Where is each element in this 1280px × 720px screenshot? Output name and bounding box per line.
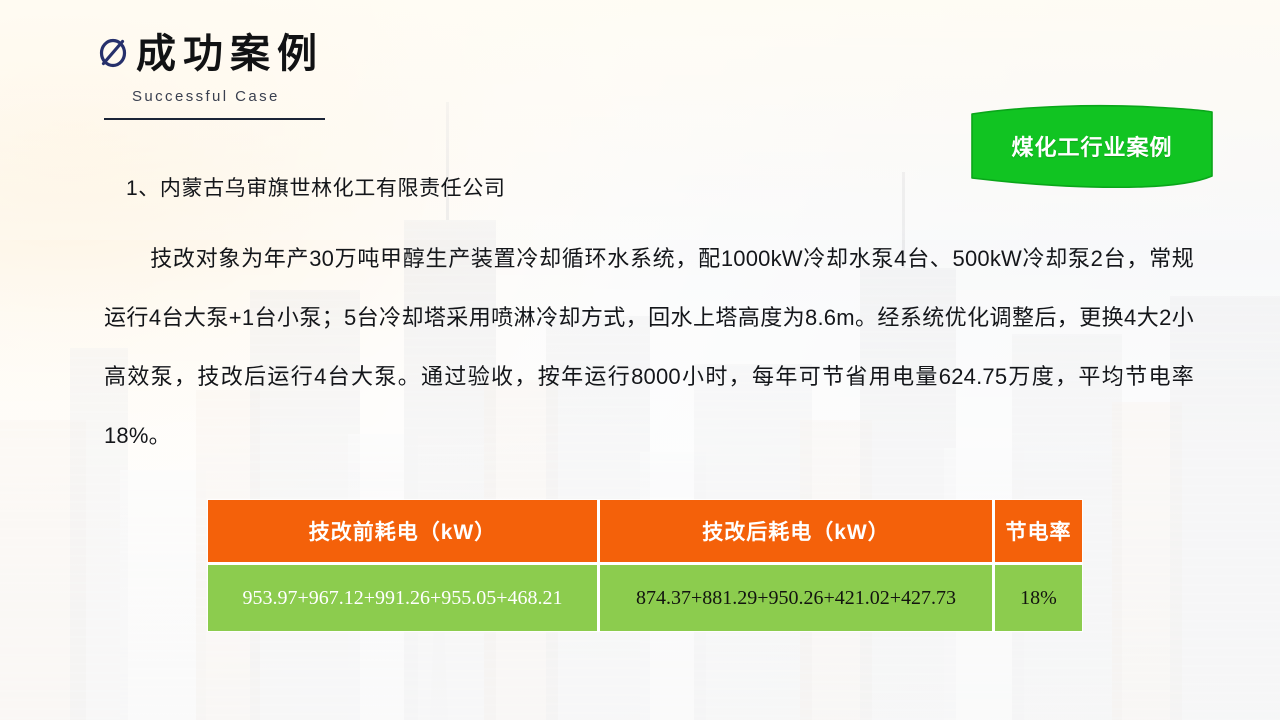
table-header-saving-rate: 节电率 bbox=[995, 500, 1082, 565]
title-underline-rule bbox=[104, 118, 325, 120]
industry-badge-label: 煤化工行业案例 bbox=[966, 130, 1218, 162]
cell-saving-rate: 18% bbox=[995, 565, 1082, 631]
slide-canvas: 成功案例 Successful Case 煤化工行业案例 1、内蒙古乌审旗世林化… bbox=[0, 0, 1280, 720]
case-heading: 1、内蒙古乌审旗世林化工有限责任公司 bbox=[126, 175, 1194, 203]
table-header-after-power: 技改后耗电（kW） bbox=[600, 500, 995, 565]
page-title: 成功案例 bbox=[136, 34, 324, 74]
body-content: 1、内蒙古乌审旗世林化工有限责任公司 技改对象为年产30万吨甲醇生产装置冷却循环… bbox=[104, 175, 1194, 465]
cell-after-power: 874.37+881.29+950.26+421.02+427.73 bbox=[600, 565, 995, 631]
energy-table-wrapper: 技改前耗电（kW） 技改后耗电（kW） 节电率 953.97+967.12+99… bbox=[208, 500, 1082, 631]
slide-header: 成功案例 Successful Case bbox=[96, 34, 656, 120]
energy-comparison-table: 技改前耗电（kW） 技改后耗电（kW） 节电率 953.97+967.12+99… bbox=[208, 500, 1082, 631]
null-circle-slash-icon bbox=[96, 35, 130, 69]
table-body: 953.97+967.12+991.26+955.05+468.21 874.3… bbox=[208, 565, 1082, 631]
table-head: 技改前耗电（kW） 技改后耗电（kW） 节电率 bbox=[208, 500, 1082, 565]
table-header-before-power: 技改前耗电（kW） bbox=[208, 500, 600, 565]
cell-before-power: 953.97+967.12+991.26+955.05+468.21 bbox=[208, 565, 600, 631]
page-subtitle: Successful Case bbox=[132, 88, 656, 105]
title-row: 成功案例 bbox=[96, 34, 656, 74]
case-paragraph: 技改对象为年产30万吨甲醇生产装置冷却循环水系统，配1000kW冷却水泵4台、5… bbox=[104, 229, 1194, 465]
table-row: 953.97+967.12+991.26+955.05+468.21 874.3… bbox=[208, 565, 1082, 631]
table-header-row: 技改前耗电（kW） 技改后耗电（kW） 节电率 bbox=[208, 500, 1082, 565]
